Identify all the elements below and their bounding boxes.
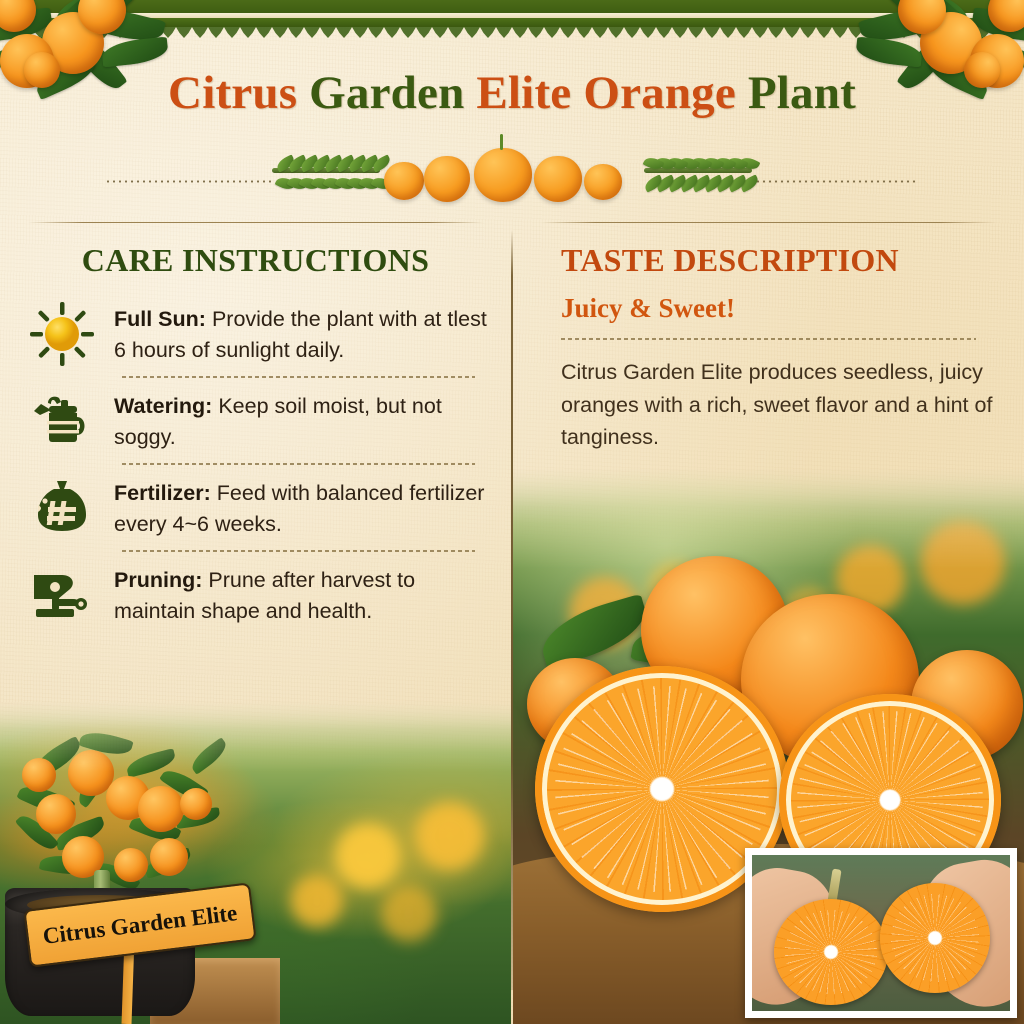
- scallop-tooth: [784, 27, 800, 38]
- care-separator-3: [122, 550, 475, 552]
- care-separator-1: [122, 376, 475, 378]
- corner-leaf: [855, 37, 923, 68]
- care-item-full-sun: Full Sun: Provide the plant with at tles…: [24, 295, 487, 372]
- scallop-tooth: [272, 27, 288, 38]
- scallop-tooth: [720, 27, 736, 38]
- scallop-tooth: [608, 27, 624, 38]
- scallop-tooth: [752, 27, 768, 38]
- scallop-tooth: [464, 27, 480, 38]
- scallop-tooth: [256, 27, 272, 38]
- sprig-orange-cluster: [382, 146, 642, 202]
- scallop-tooth: [688, 27, 704, 38]
- care-item-label: Watering:: [114, 394, 212, 418]
- sun-icon: [24, 298, 100, 370]
- scallop-tooth: [352, 27, 368, 38]
- title-word-elite: Elite: [476, 67, 571, 119]
- care-item-text: Pruning: Prune after harvest to maintain…: [114, 559, 487, 626]
- scallop-tooth: [496, 27, 512, 38]
- scallop-tooth: [544, 27, 560, 38]
- inset-photo-content: [752, 855, 1010, 1011]
- care-item-label: Full Sun:: [114, 307, 206, 331]
- scallop-tooth: [432, 27, 448, 38]
- scallop-tooth: [816, 27, 832, 38]
- scallop-tooth: [640, 27, 656, 38]
- sprig-orange-fruit: [424, 156, 470, 202]
- scallop-tooth: [240, 27, 256, 38]
- care-item-watering: Watering: Keep soil moist, but not soggy…: [24, 382, 487, 459]
- care-heading: CARE INSTRUCTIONS: [0, 230, 511, 279]
- scallop-tooth: [768, 27, 784, 38]
- care-column: CARE INSTRUCTIONS: [0, 230, 511, 1024]
- column-divider: [511, 230, 513, 990]
- scallop-tooth: [304, 27, 320, 38]
- care-separator-2: [122, 463, 475, 465]
- dotted-rule-left: [105, 180, 275, 183]
- pruning-shears-icon: [24, 559, 100, 631]
- care-item-text: Fertilizer: Feed with balanced fertilize…: [114, 472, 487, 539]
- taste-heading: TASTE DESCRIPTION: [513, 230, 1024, 279]
- title-word-orange: Orange: [583, 67, 736, 119]
- banner-green-band-top: [0, 0, 1024, 13]
- title-sprig-divider: [0, 140, 1024, 202]
- scallop-tooth: [192, 27, 208, 38]
- scallop-tooth: [288, 27, 304, 38]
- scallop-tooth: [592, 27, 608, 38]
- inset-orange-half-left: [774, 899, 888, 1005]
- scallop-tooth: [736, 27, 752, 38]
- title-word-plant: Plant: [748, 67, 856, 119]
- scallop-tooth: [656, 27, 672, 38]
- header-rule-left: [28, 222, 483, 223]
- poster-root: Citrus Garden Elite Orange Plant CARE IN…: [0, 0, 1024, 1024]
- scallop-tooth: [480, 27, 496, 38]
- scallop-tooth: [512, 27, 528, 38]
- scallop-tooth: [672, 27, 688, 38]
- taste-separator: [561, 338, 976, 340]
- sprig-orange-fruit: [534, 156, 582, 202]
- care-item-fertilizer: Fertilizer: Feed with balanced fertilize…: [24, 469, 487, 546]
- scallop-tooth: [576, 27, 592, 38]
- watering-can-icon: [24, 385, 100, 457]
- taste-body-text: Citrus Garden Elite produces seedless, j…: [513, 340, 1024, 454]
- sprig-orange-fruit: [474, 148, 532, 202]
- scallop-tooth: [400, 27, 416, 38]
- scallop-tooth: [336, 27, 352, 38]
- title-word-citrus: Citrus: [168, 67, 297, 119]
- scallop-tooth: [208, 27, 224, 38]
- scallop-tooth: [832, 27, 848, 38]
- scallop-tooth: [800, 27, 816, 38]
- care-item-pruning: Pruning: Prune after harvest to maintain…: [24, 556, 487, 633]
- care-item-text: Watering: Keep soil moist, but not soggy…: [114, 385, 487, 452]
- dotted-rule-right: [749, 180, 919, 183]
- sprig-orange-stem: [500, 134, 503, 150]
- sprig-orange-fruit: [584, 164, 622, 200]
- care-instruction-list: Full Sun: Provide the plant with at tles…: [0, 279, 511, 633]
- scallop-tooth: [416, 27, 432, 38]
- scallop-tooth: [624, 27, 640, 38]
- hands-holding-orange-inset-photo: [745, 848, 1017, 1018]
- scallop-tooth: [176, 27, 192, 38]
- page-title: Citrus Garden Elite Orange Plant: [0, 66, 1024, 120]
- scallop-tooth: [704, 27, 720, 38]
- care-item-text: Full Sun: Provide the plant with at tles…: [114, 298, 487, 365]
- sprig-orange-fruit: [384, 162, 424, 200]
- care-item-label: Pruning:: [114, 568, 202, 592]
- scallop-tooth: [224, 27, 240, 38]
- scallop-tooth: [384, 27, 400, 38]
- scallop-tooth: [528, 27, 544, 38]
- scallop-tooth: [560, 27, 576, 38]
- taste-subheading: Juicy & Sweet!: [513, 279, 1024, 324]
- corner-leaf: [101, 37, 169, 68]
- care-item-label: Fertilizer:: [114, 481, 211, 505]
- fertilizer-bag-icon: [24, 472, 100, 544]
- scallop-tooth: [320, 27, 336, 38]
- title-word-garden: Garden: [309, 67, 464, 119]
- scallop-tooth: [368, 27, 384, 38]
- scallop-tooth: [448, 27, 464, 38]
- header-rule-right: [541, 222, 996, 223]
- inset-orange-half-right: [880, 883, 990, 993]
